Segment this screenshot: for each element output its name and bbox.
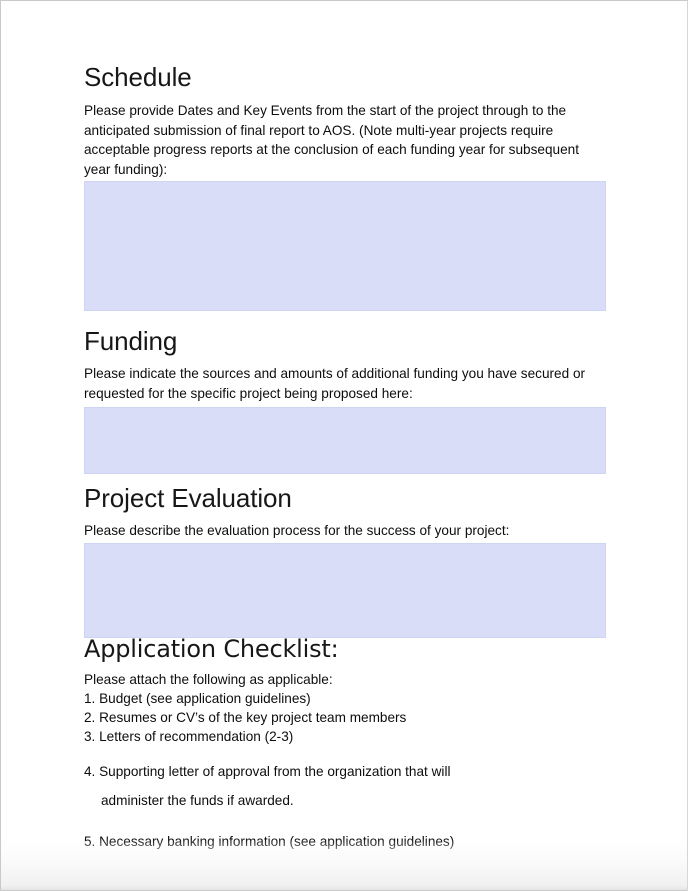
funding-input-field[interactable]	[84, 407, 606, 474]
checklist-item: 1. Budget (see application guidelines)	[84, 689, 606, 708]
schedule-description: Please provide Dates and Key Events from…	[84, 101, 604, 179]
document-page: Schedule Please provide Dates and Key Ev…	[0, 0, 688, 891]
checklist-item-line: 4. Supporting letter of approval from th…	[84, 764, 450, 779]
checklist-item: 4. Supporting letter of approval from th…	[84, 762, 606, 810]
checklist-item-line: 5. Necessary banking information (see ap…	[84, 834, 454, 849]
checklist-intro-text: Please attach the following as applicabl…	[84, 670, 606, 689]
project-evaluation-input-field[interactable]	[84, 543, 606, 638]
checklist-item-continuation: administer the funds if awarded.	[84, 791, 606, 810]
schedule-input-field[interactable]	[84, 181, 606, 311]
funding-description: Please indicate the sources and amounts …	[84, 364, 606, 403]
project-evaluation-heading: Project Evaluation	[84, 484, 292, 513]
checklist-item: 3. Letters of recommendation (2-3)	[84, 727, 606, 746]
checklist-list: 1. Budget (see application guidelines) 2…	[84, 689, 606, 851]
checklist-item: 2. Resumes or CV’s of the key project te…	[84, 708, 606, 727]
application-checklist-heading: Application Checklist:	[84, 636, 339, 662]
funding-heading: Funding	[84, 327, 177, 356]
schedule-heading: Schedule	[84, 63, 192, 92]
checklist-item: 5. Necessary banking information (see ap…	[84, 832, 606, 851]
project-evaluation-description: Please describe the evaluation process f…	[84, 521, 606, 541]
application-checklist-block: Please attach the following as applicabl…	[84, 670, 606, 851]
